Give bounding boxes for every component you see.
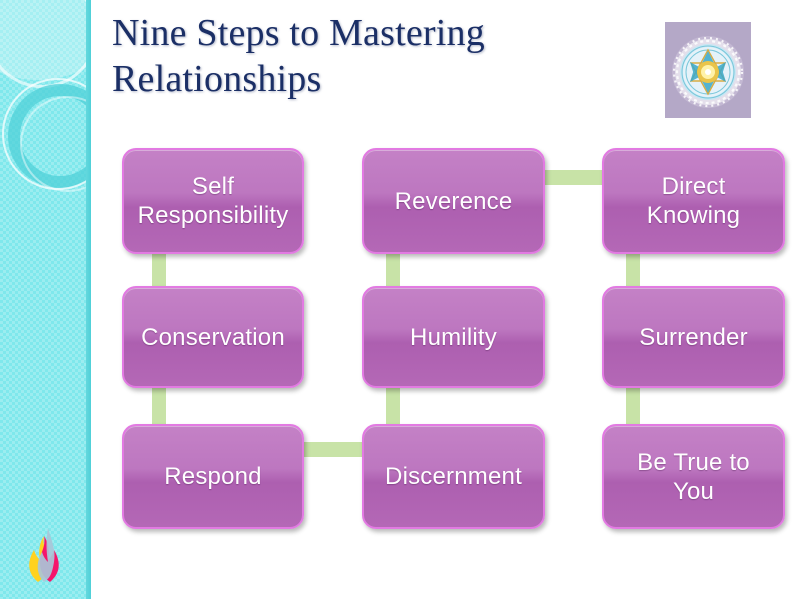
page-title: Nine Steps to Mastering Relationships <box>112 10 632 102</box>
node-label-line1: Humility <box>410 323 497 352</box>
node-discernment[interactable]: Discernment <box>362 424 545 529</box>
node-label-line1: Reverence <box>395 187 513 216</box>
connector-surrender-to-be-true-to-you <box>626 388 640 426</box>
connector-conservation-to-respond <box>152 388 166 426</box>
node-label-line1: Be True to <box>637 448 750 477</box>
mandala-yantra-image <box>665 22 751 118</box>
node-label-line2: Knowing <box>647 201 740 230</box>
connector-respond-to-discernment <box>298 442 366 457</box>
node-self-responsibility[interactable]: Self Responsibility <box>122 148 304 254</box>
node-surrender[interactable]: Surrender <box>602 286 785 388</box>
connector-direct-knowing-to-surrender <box>626 252 640 288</box>
node-direct-knowing[interactable]: Direct Knowing <box>602 148 785 254</box>
node-label-line1: Self <box>138 172 289 201</box>
node-label-line1: Direct <box>647 172 740 201</box>
node-be-true-to-you[interactable]: Be True to You <box>602 424 785 529</box>
decorative-sidebar <box>0 0 91 599</box>
sidebar-circle-outline-top <box>0 0 91 88</box>
node-label-line1: Respond <box>164 462 261 491</box>
slide-canvas: Nine Steps to Mastering Relationships <box>0 0 800 599</box>
connector-reverence-to-direct-knowing <box>540 170 608 185</box>
connector-humility-to-discernment <box>386 388 400 426</box>
flame-logo <box>18 520 78 584</box>
node-humility[interactable]: Humility <box>362 286 545 388</box>
node-label-line1: Conservation <box>141 323 285 352</box>
node-label-line2: You <box>637 477 750 506</box>
sidebar-edge-strip <box>86 0 91 599</box>
node-reverence[interactable]: Reverence <box>362 148 545 254</box>
connector-self-responsibility-to-conservation <box>152 252 166 288</box>
node-respond[interactable]: Respond <box>122 424 304 529</box>
node-label-line2: Responsibility <box>138 201 289 230</box>
node-label-line1: Discernment <box>385 462 522 491</box>
node-conservation[interactable]: Conservation <box>122 286 304 388</box>
node-label-line1: Surrender <box>639 323 748 352</box>
connector-reverence-to-humility <box>386 252 400 288</box>
